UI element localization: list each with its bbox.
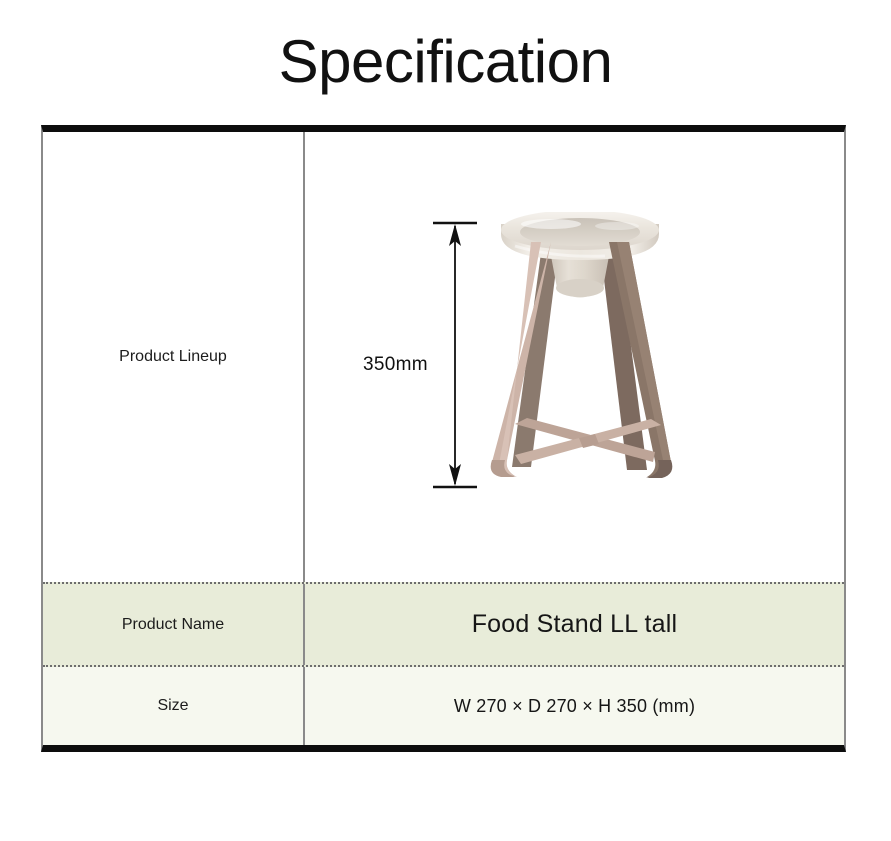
row-label-size: Size [43, 667, 305, 745]
row-label-product-name: Product Name [43, 584, 305, 665]
table-row-size: Size W 270 × D 270 × H 350 (mm) [43, 667, 844, 745]
specification-table: Product Lineup 350mm [41, 125, 846, 752]
food-stand-illustration [355, 212, 775, 542]
size-value: W 270 × D 270 × H 350 (mm) [454, 696, 695, 717]
dimension-arrow [433, 223, 477, 487]
page-title: Specification [0, 28, 891, 95]
row-label-product-lineup: Product Lineup [43, 132, 305, 582]
product-figure: 350mm [305, 132, 844, 582]
row-value-product-name: Food Stand LL tall [305, 584, 844, 665]
row-value-size: W 270 × D 270 × H 350 (mm) [305, 667, 844, 745]
product-name-value: Food Stand LL tall [472, 610, 678, 639]
table-row-product-lineup: Product Lineup 350mm [43, 132, 844, 582]
bowl-rim [501, 212, 659, 260]
table-row-product-name: Product Name Food Stand LL tall [43, 582, 844, 667]
bowl-basin [551, 256, 609, 298]
row-value-product-lineup: 350mm [305, 132, 844, 582]
